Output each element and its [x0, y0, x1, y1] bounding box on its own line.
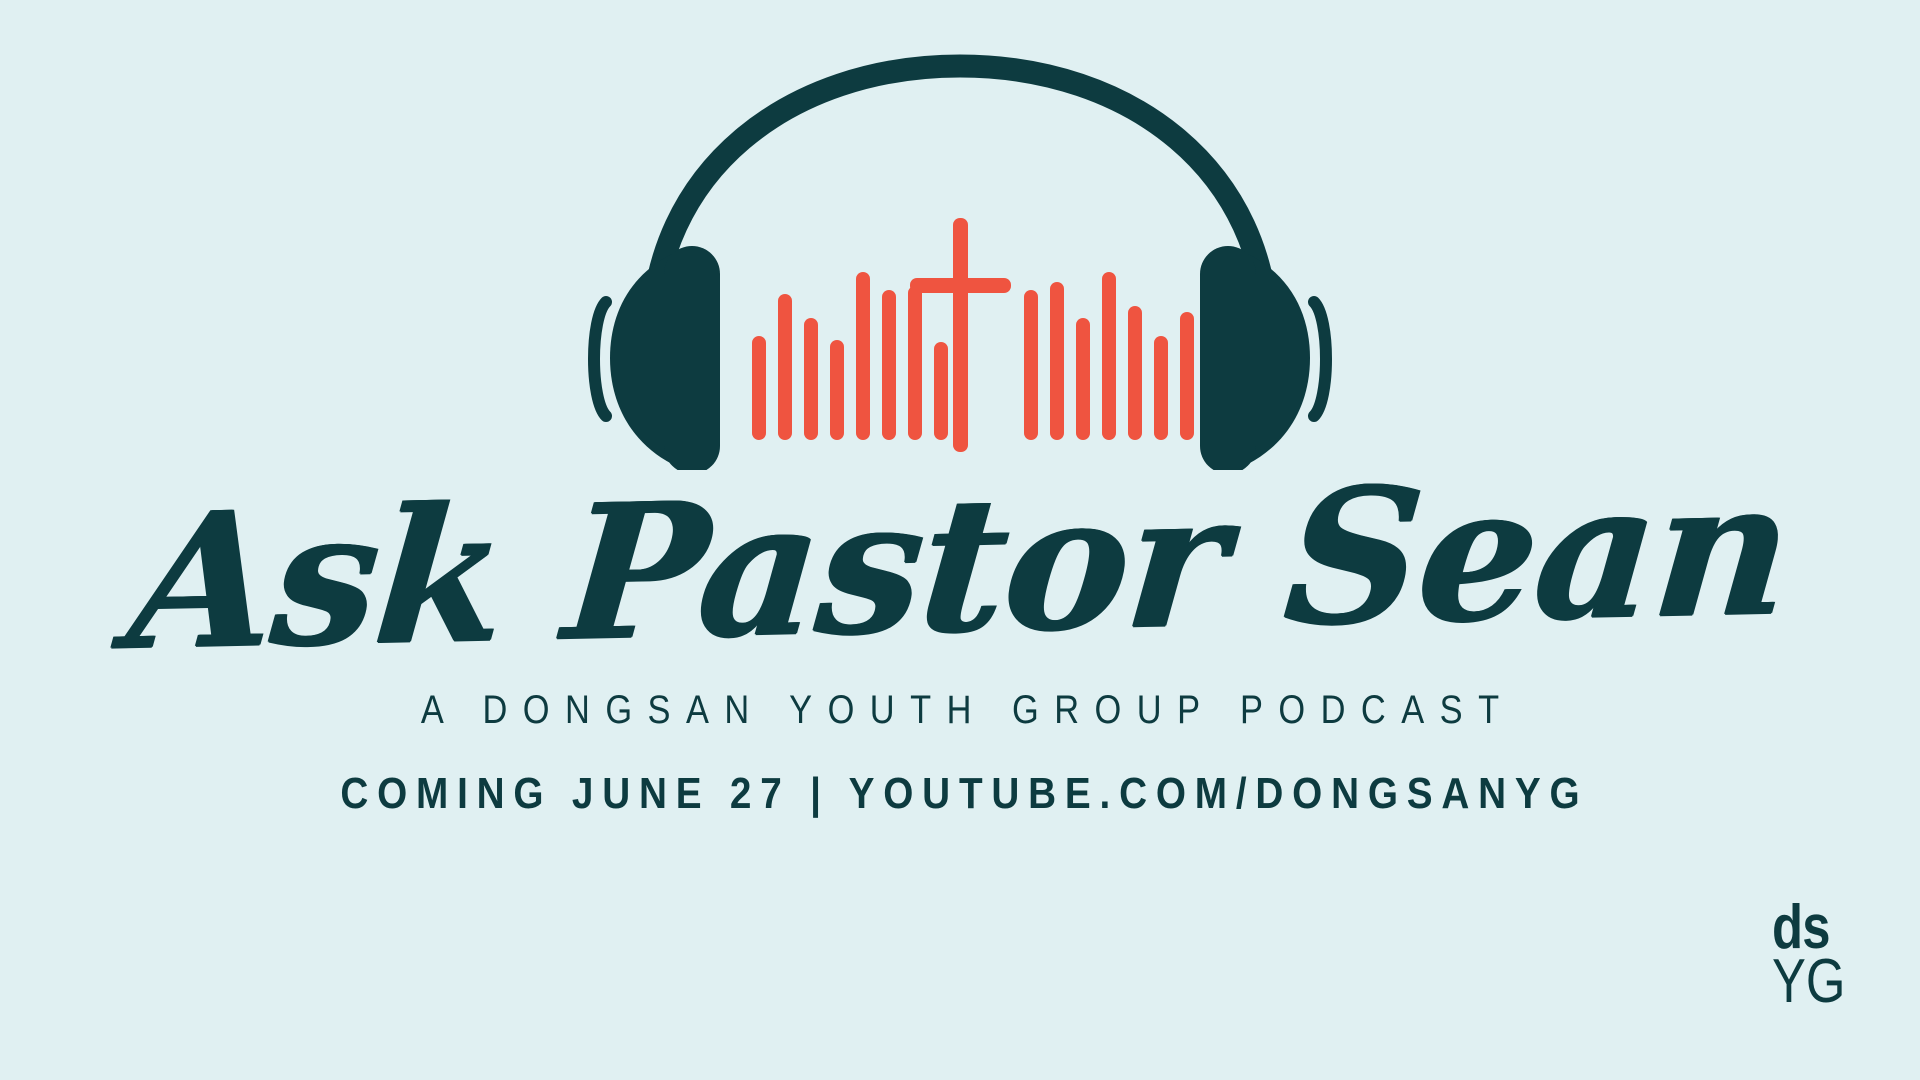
title-block: Ask Pastor Sean [0, 455, 1920, 675]
wave-bar [778, 294, 792, 440]
wave-bar [908, 286, 922, 440]
wave-bar [856, 272, 870, 440]
cross-horizontal [910, 278, 1011, 293]
cross-vertical [953, 218, 968, 452]
wave-bar [934, 342, 948, 440]
left-earcup-pad-icon [664, 246, 720, 470]
wave-bar [752, 336, 766, 440]
wave-bar [1102, 272, 1116, 440]
wave-bar [1128, 306, 1142, 440]
wave-bar [1154, 336, 1168, 440]
wave-bar [1180, 312, 1194, 440]
poster-canvas: Ask Pastor Sean A DONGSAN YOUTH GROUP PO… [0, 0, 1920, 1080]
right-outer-rim-icon [1314, 302, 1326, 416]
wave-bar [882, 290, 896, 440]
wave-bar [1076, 318, 1090, 440]
subtitle-block: A DONGSAN YOUTH GROUP PODCAST COMING JUN… [0, 690, 1920, 816]
page-title: Ask Pastor Sean [124, 455, 1797, 676]
subtitle-tagline: A DONGSAN YOUTH GROUP PODCAST [134, 690, 1785, 730]
brand-logo-yg: YG [1772, 955, 1862, 1008]
right-earcup-backing-icon [1248, 254, 1310, 464]
cross-icon [910, 218, 1011, 452]
right-earcup-pad-icon [1200, 246, 1256, 470]
soundwave-right-group [1024, 272, 1194, 440]
wave-bar [830, 340, 844, 440]
headphones-logo-mark [580, 50, 1340, 470]
wave-bar [804, 318, 818, 440]
wave-bar [1024, 290, 1038, 440]
subtitle-release-and-url: COMING JUNE 27 | YOUTUBE.COM/DONGSANYG [115, 772, 1805, 816]
soundwave-left-group [752, 272, 948, 440]
headphones-soundwave-cross-icon [580, 50, 1340, 470]
wave-bar [1050, 282, 1064, 440]
dsyg-brand-logo: ds YG [1772, 901, 1882, 1008]
